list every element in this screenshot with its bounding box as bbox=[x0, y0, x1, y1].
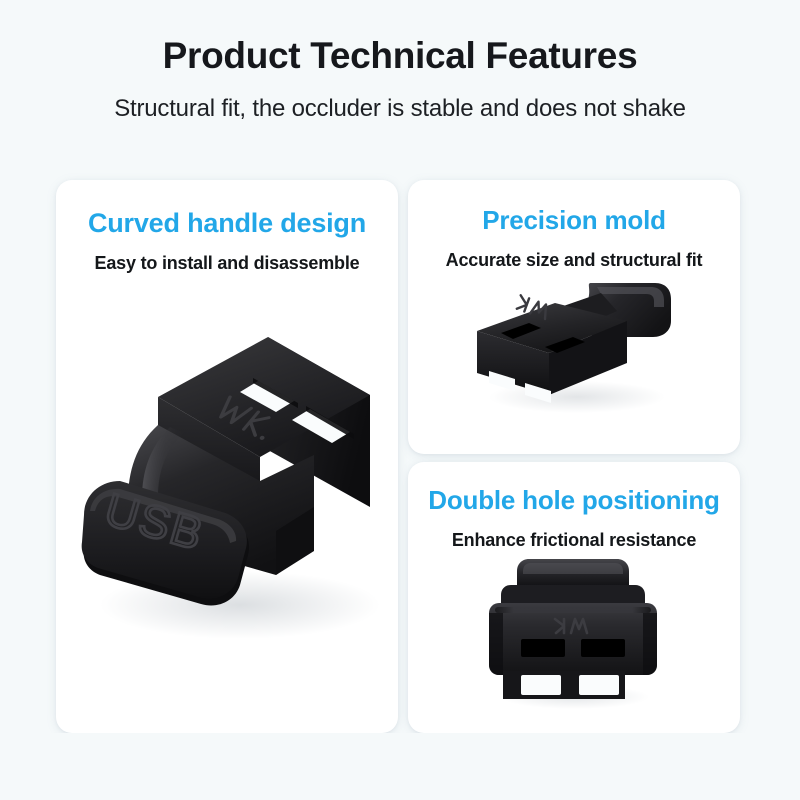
feature-card-double-hole-positioning: Double hole positioning Enhance friction… bbox=[408, 462, 740, 733]
product-feature-infographic: Product Technical Features Structural fi… bbox=[0, 0, 800, 800]
feature-card-subtitle: Accurate size and structural fit bbox=[408, 250, 740, 272]
feature-card-subtitle: Enhance frictional resistance bbox=[408, 530, 740, 552]
product-photo-double-hole bbox=[408, 551, 740, 711]
usb-port-blocker-angled-icon: USB bbox=[62, 275, 392, 685]
usb-port-blocker-front-icon bbox=[459, 551, 689, 711]
feature-card-title: Curved handle design bbox=[56, 208, 398, 239]
page-title: Product Technical Features bbox=[0, 36, 800, 77]
product-photo-precision-mold bbox=[408, 271, 740, 421]
feature-card-subtitle: Easy to install and disassemble bbox=[56, 253, 398, 275]
footer-blank-area bbox=[0, 733, 800, 800]
feature-card-title: Precision mold bbox=[408, 206, 740, 236]
product-photo-curved-handle: USB bbox=[56, 275, 398, 695]
feature-card-precision-mold: Precision mold Accurate size and structu… bbox=[408, 180, 740, 454]
feature-card-title: Double hole positioning bbox=[408, 486, 740, 516]
header: Product Technical Features Structural fi… bbox=[0, 0, 800, 122]
usb-port-blocker-three-quarter-icon bbox=[449, 271, 699, 421]
feature-card-curved-handle: Curved handle design Easy to install and… bbox=[56, 180, 398, 733]
page-subtitle: Structural fit, the occluder is stable a… bbox=[0, 95, 800, 123]
